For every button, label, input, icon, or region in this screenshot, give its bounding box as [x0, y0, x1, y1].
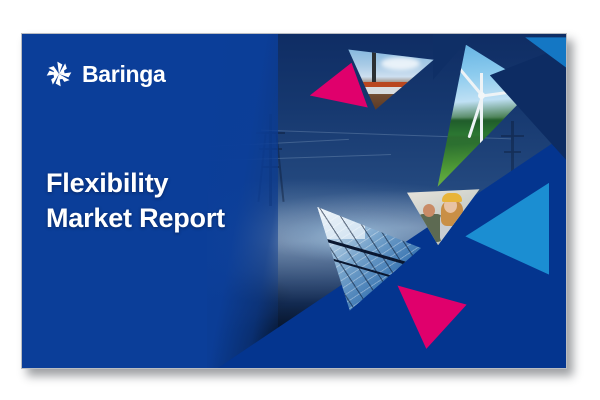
hard-hat-icon — [442, 193, 462, 202]
page-title: Flexibility Market Report — [46, 166, 225, 236]
brand-logo: Baringa — [45, 60, 166, 88]
turbine-hub — [478, 92, 485, 99]
cloud-shape — [381, 57, 420, 70]
screenshot-root: Baringa Flexibility Market Report — [0, 0, 600, 400]
baringa-pinwheel-logo-icon — [45, 60, 73, 88]
chimney-stack — [372, 50, 376, 82]
presentation-slide: Baringa Flexibility Market Report — [21, 33, 567, 369]
slide-canvas: Baringa Flexibility Market Report — [22, 34, 566, 368]
brand-wordmark: Baringa — [82, 63, 166, 86]
